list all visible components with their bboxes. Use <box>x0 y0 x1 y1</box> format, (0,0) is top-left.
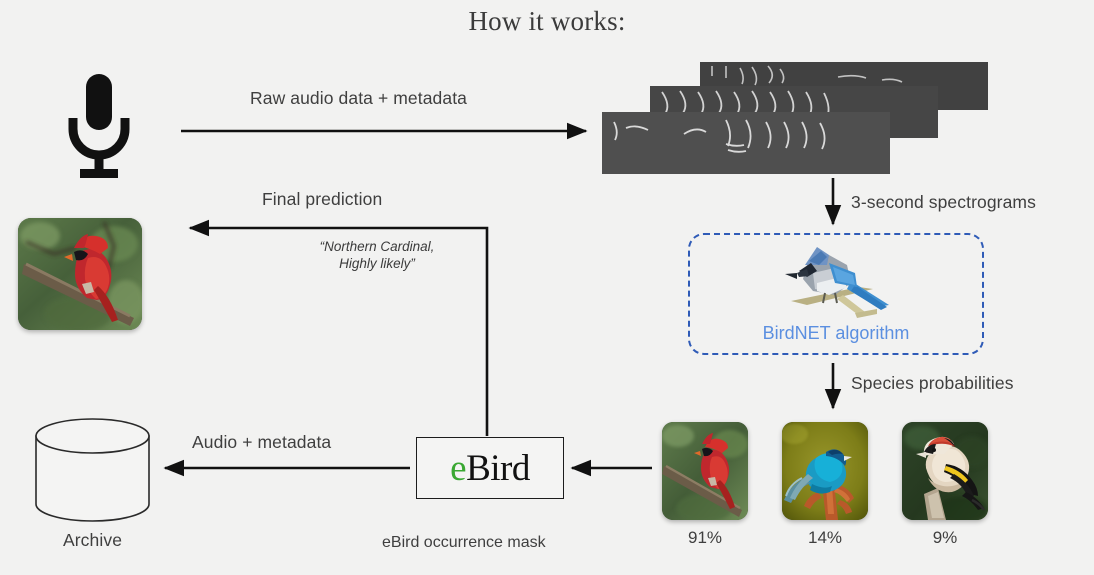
edge-label-3-second-spectrograms: 3-second spectrograms <box>851 192 1036 213</box>
ebird-logo-bird: Bird <box>466 448 530 489</box>
edge-label-audio-metadata: Audio + metadata <box>192 432 331 453</box>
species-thumb-indigo-bunting <box>782 422 868 520</box>
edge-label-species-probabilities: Species probabilities <box>851 373 1014 394</box>
final-prediction-quote: “Northern Cardinal, Highly likely” <box>262 238 492 272</box>
ebird-node[interactable]: eBird <box>416 437 564 499</box>
archive-label: Archive <box>30 530 155 551</box>
quote-line-1: “Northern Cardinal, <box>262 238 492 255</box>
blue-jay-logo-icon <box>777 243 895 328</box>
edge-label-raw-audio: Raw audio data + metadata <box>250 88 467 109</box>
ebird-logo: eBird <box>450 450 530 487</box>
birdnet-algorithm-box[interactable]: BirdNET algorithm <box>688 233 984 355</box>
spectrogram-panel-front <box>602 112 890 174</box>
species-thumb-northern-cardinal <box>662 422 748 520</box>
prediction-photo-northern-cardinal <box>18 218 142 330</box>
species-thumb-european-goldfinch <box>902 422 988 520</box>
ebird-occurrence-mask-label: eBird occurrence mask <box>382 534 546 552</box>
quote-line-2: Highly likely” <box>262 255 492 272</box>
diagram-canvas: How it works: <box>0 0 1094 575</box>
species-probability-2: 9% <box>890 528 1000 548</box>
microphone-icon <box>62 72 136 180</box>
species-probability-1: 14% <box>770 528 880 548</box>
spectrogram-stack <box>600 60 1020 185</box>
ebird-logo-e: e <box>450 448 466 489</box>
species-probability-0: 91% <box>650 528 760 548</box>
birdnet-label: BirdNET algorithm <box>690 323 982 344</box>
edge-label-final-prediction: Final prediction <box>262 189 382 210</box>
archive-database-icon <box>30 418 155 523</box>
